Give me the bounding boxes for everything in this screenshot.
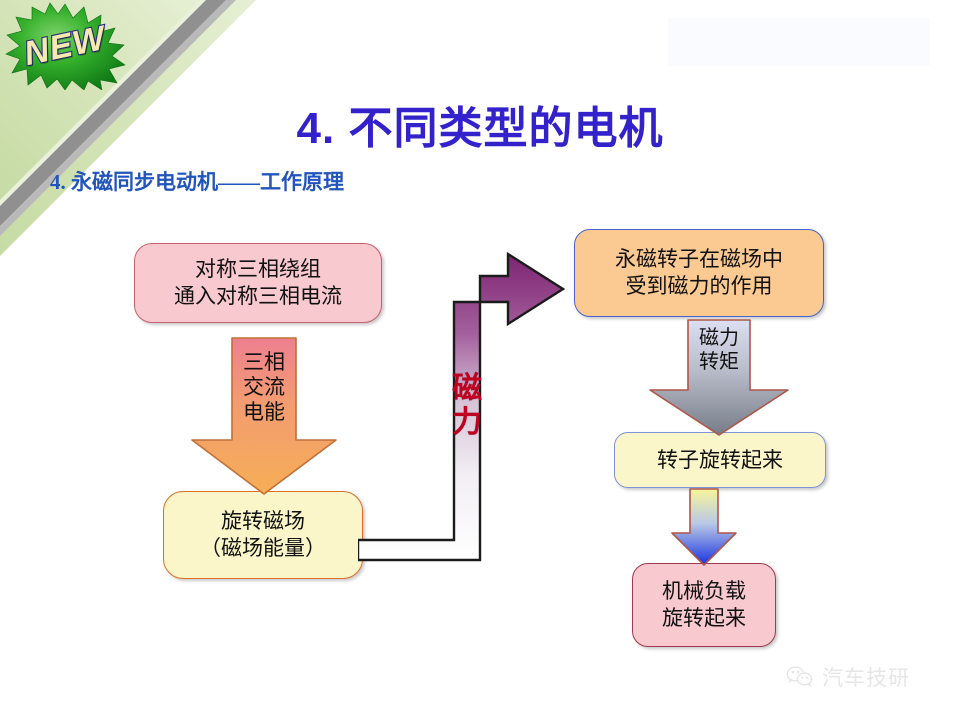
arrow-three-phase-label: 三相 交流 电能: [243, 336, 285, 426]
page-title: 4. 不同类型的电机: [0, 92, 960, 156]
down-arrow-icon: [668, 487, 740, 567]
flow-box-rotor-force-line2: 受到磁力的作用: [626, 273, 773, 300]
flow-box-rotating-field-line2: （磁场能量）: [200, 535, 326, 562]
watermark-label: 汽车技研: [822, 662, 910, 692]
arrow-three-phase-line1: 三相: [243, 350, 285, 374]
watermark: 汽车技研: [786, 662, 910, 692]
wechat-icon: [786, 665, 814, 689]
arrow-magnetic-force-line2: 力: [452, 406, 482, 439]
arrow-magnetic-force-line1: 磁: [452, 372, 482, 405]
arrow-three-phase-line3: 电能: [243, 400, 285, 424]
flow-box-stator-line2: 通入对称三相电流: [174, 283, 342, 310]
arrow-magnetic-torque-line2: 转矩: [699, 351, 739, 373]
flow-box-rotor-force-line1: 永磁转子在磁场中: [615, 246, 783, 273]
top-right-plate: [668, 18, 930, 66]
flow-box-rotor-spin[interactable]: 转子旋转起来: [614, 432, 826, 488]
flow-box-rotating-field-line1: 旋转磁场: [221, 508, 305, 535]
flow-box-rotating-field[interactable]: 旋转磁场 （磁场能量）: [163, 491, 363, 579]
arrow-magnetic-torque-line1: 磁力: [699, 327, 739, 349]
flow-box-stator-line1: 对称三相绕组: [195, 256, 321, 283]
flow-box-rotor-force[interactable]: 永磁转子在磁场中 受到磁力的作用: [574, 229, 824, 317]
arrow-magnetic-torque: 磁力 转矩: [644, 318, 794, 438]
arrow-three-phase-power: 三相 交流 电能: [184, 336, 344, 498]
arrow-magnetic-force-label: 磁 力: [452, 372, 482, 439]
flow-box-stator[interactable]: 对称三相绕组 通入对称三相电流: [134, 243, 382, 323]
arrow-to-mechanical-load: [668, 487, 740, 567]
arrow-three-phase-line2: 交流: [243, 375, 285, 399]
flow-box-mech-load-line1: 机械负载: [662, 578, 746, 605]
flow-box-rotor-spin-line1: 转子旋转起来: [657, 447, 783, 474]
arrow-magnetic-torque-label: 磁力 转矩: [699, 318, 739, 374]
new-badge: NEW: [4, 2, 126, 90]
flow-box-mech-load[interactable]: 机械负载 旋转起来: [632, 563, 776, 647]
arrow-magnetic-force: 磁 力: [358, 244, 580, 562]
flow-box-mech-load-line2: 旋转起来: [662, 605, 746, 632]
page-subtitle: 4. 永磁同步电动机——工作原理: [50, 166, 344, 196]
